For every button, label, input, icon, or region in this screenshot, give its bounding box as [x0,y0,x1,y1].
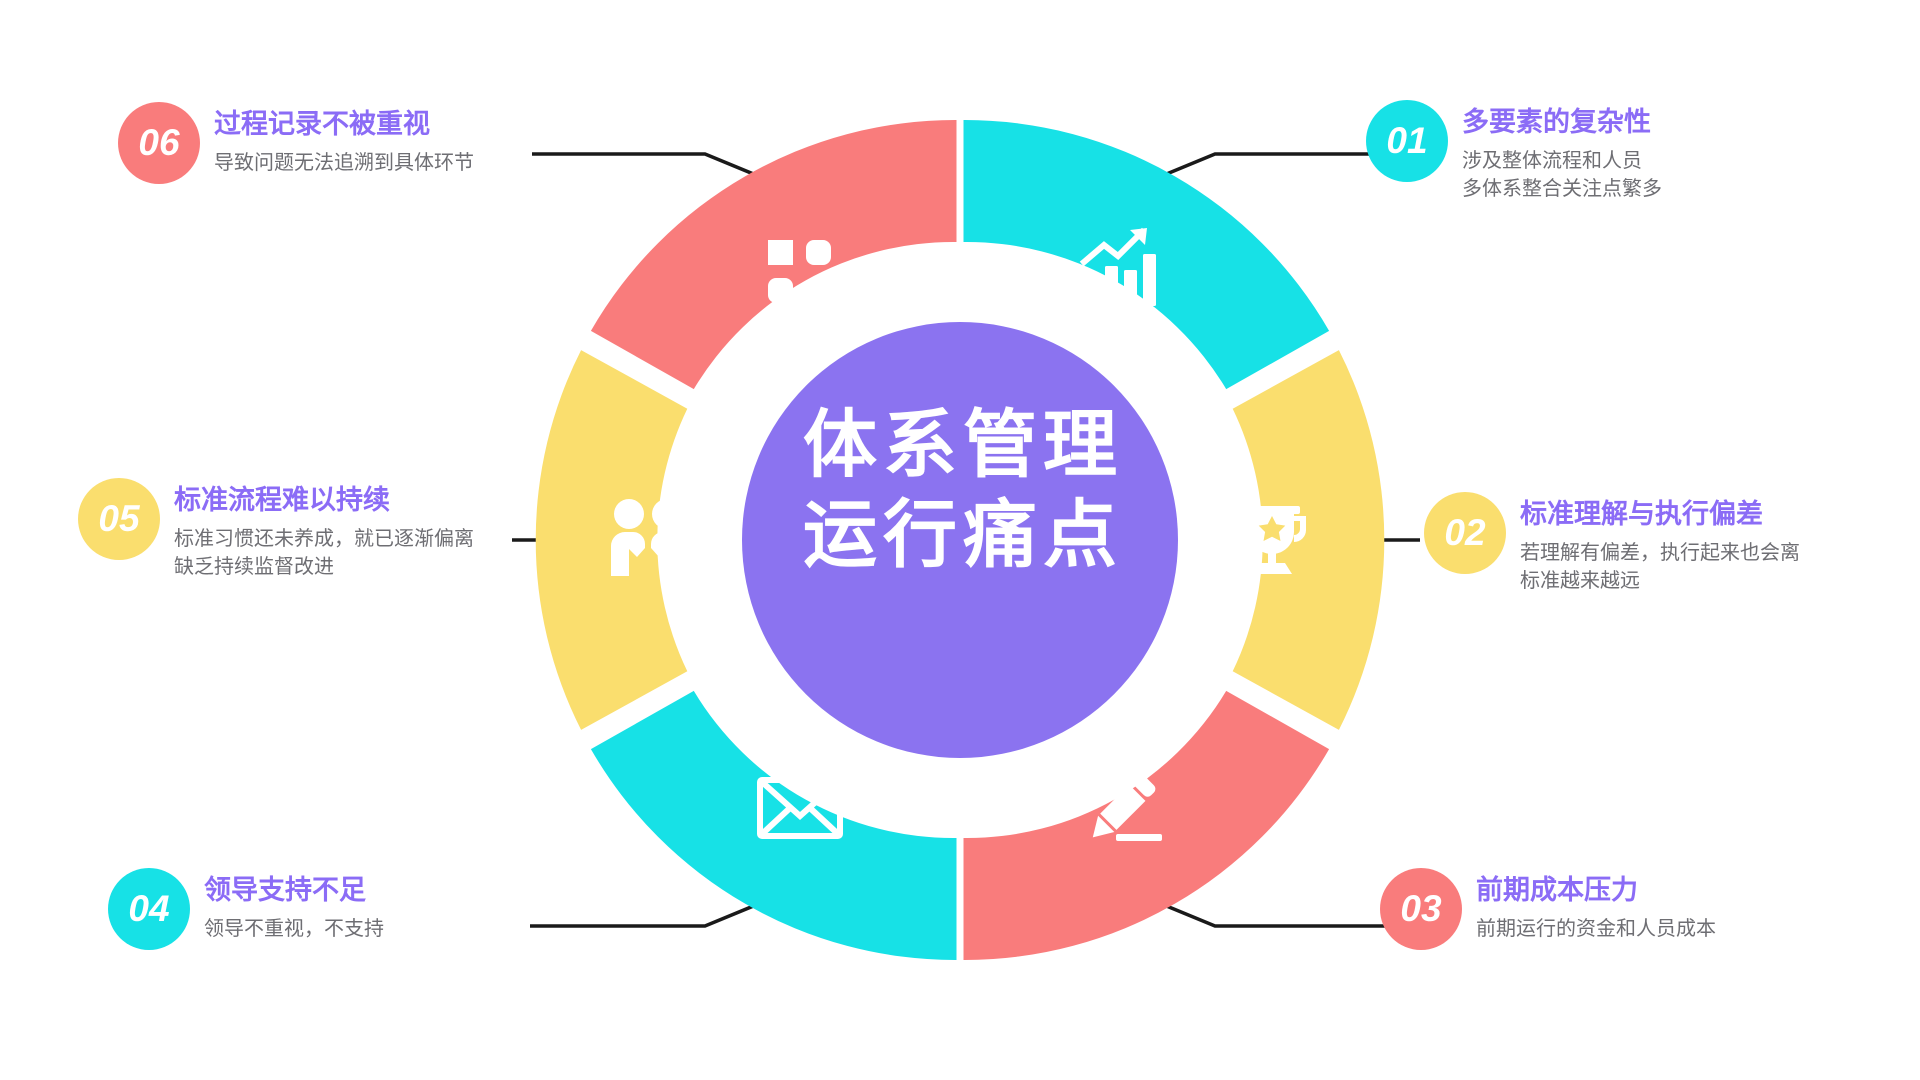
callout-desc-02: 若理解有偏差，执行起来也会离 标准越来越远 [1520,539,1800,596]
callout-item-06[interactable]: 06 过程记录不被重视 导致问题无法追溯到具体环节 [118,102,474,184]
callout-desc-03: 前期运行的资金和人员成本 [1476,915,1716,943]
connector-line-06 [532,154,768,180]
callout-badge-06: 06 [118,102,200,184]
callout-texts-02: 标准理解与执行偏差 若理解有偏差，执行起来也会离 标准越来越远 [1520,492,1800,596]
callout-badge-01: 01 [1366,100,1448,182]
callout-item-03[interactable]: 03 前期成本压力 前期运行的资金和人员成本 [1380,868,1716,950]
callout-desc-04: 领导不重视，不支持 [204,915,384,943]
callout-desc-05: 标准习惯还未养成，就已逐渐偏离 缺乏持续监督改进 [174,525,474,582]
callout-badge-04: 04 [108,868,190,950]
callout-texts-06: 过程记录不被重视 导致问题无法追溯到具体环节 [214,102,474,177]
callout-badge-03: 03 [1380,868,1462,950]
callout-badge-05: 05 [78,478,160,560]
callout-texts-01: 多要素的复杂性 涉及整体流程和人员 多体系整合关注点繁多 [1462,100,1662,204]
callout-texts-03: 前期成本压力 前期运行的资金和人员成本 [1476,868,1716,943]
infographic-canvas: 体系管理 运行痛点 01 多要素的复杂性 涉及整体流程和人员 多体系整合关注点繁… [0,0,1920,1080]
callout-title-02: 标准理解与执行偏差 [1520,498,1800,532]
callout-texts-04: 领导支持不足 领导不重视，不支持 [204,868,384,943]
callout-item-01[interactable]: 01 多要素的复杂性 涉及整体流程和人员 多体系整合关注点繁多 [1366,100,1662,204]
callout-title-04: 领导支持不足 [204,874,384,908]
center-disc [742,322,1178,758]
callout-desc-06: 导致问题无法追溯到具体环节 [214,149,474,177]
callout-item-05[interactable]: 05 标准流程难以持续 标准习惯还未养成，就已逐渐偏离 缺乏持续监督改进 [78,478,474,582]
callout-title-01: 多要素的复杂性 [1462,106,1662,140]
callout-title-03: 前期成本压力 [1476,874,1716,908]
callout-item-04[interactable]: 04 领导支持不足 领导不重视，不支持 [108,868,384,950]
callout-item-02[interactable]: 02 标准理解与执行偏差 若理解有偏差，执行起来也会离 标准越来越远 [1424,492,1800,596]
callout-title-05: 标准流程难以持续 [174,484,474,518]
callout-title-06: 过程记录不被重视 [214,108,474,142]
callout-desc-01: 涉及整体流程和人员 多体系整合关注点繁多 [1462,147,1662,204]
callout-badge-02: 02 [1424,492,1506,574]
connector-line-04 [530,900,768,926]
callout-texts-05: 标准流程难以持续 标准习惯还未养成，就已逐渐偏离 缺乏持续监督改进 [174,478,474,582]
